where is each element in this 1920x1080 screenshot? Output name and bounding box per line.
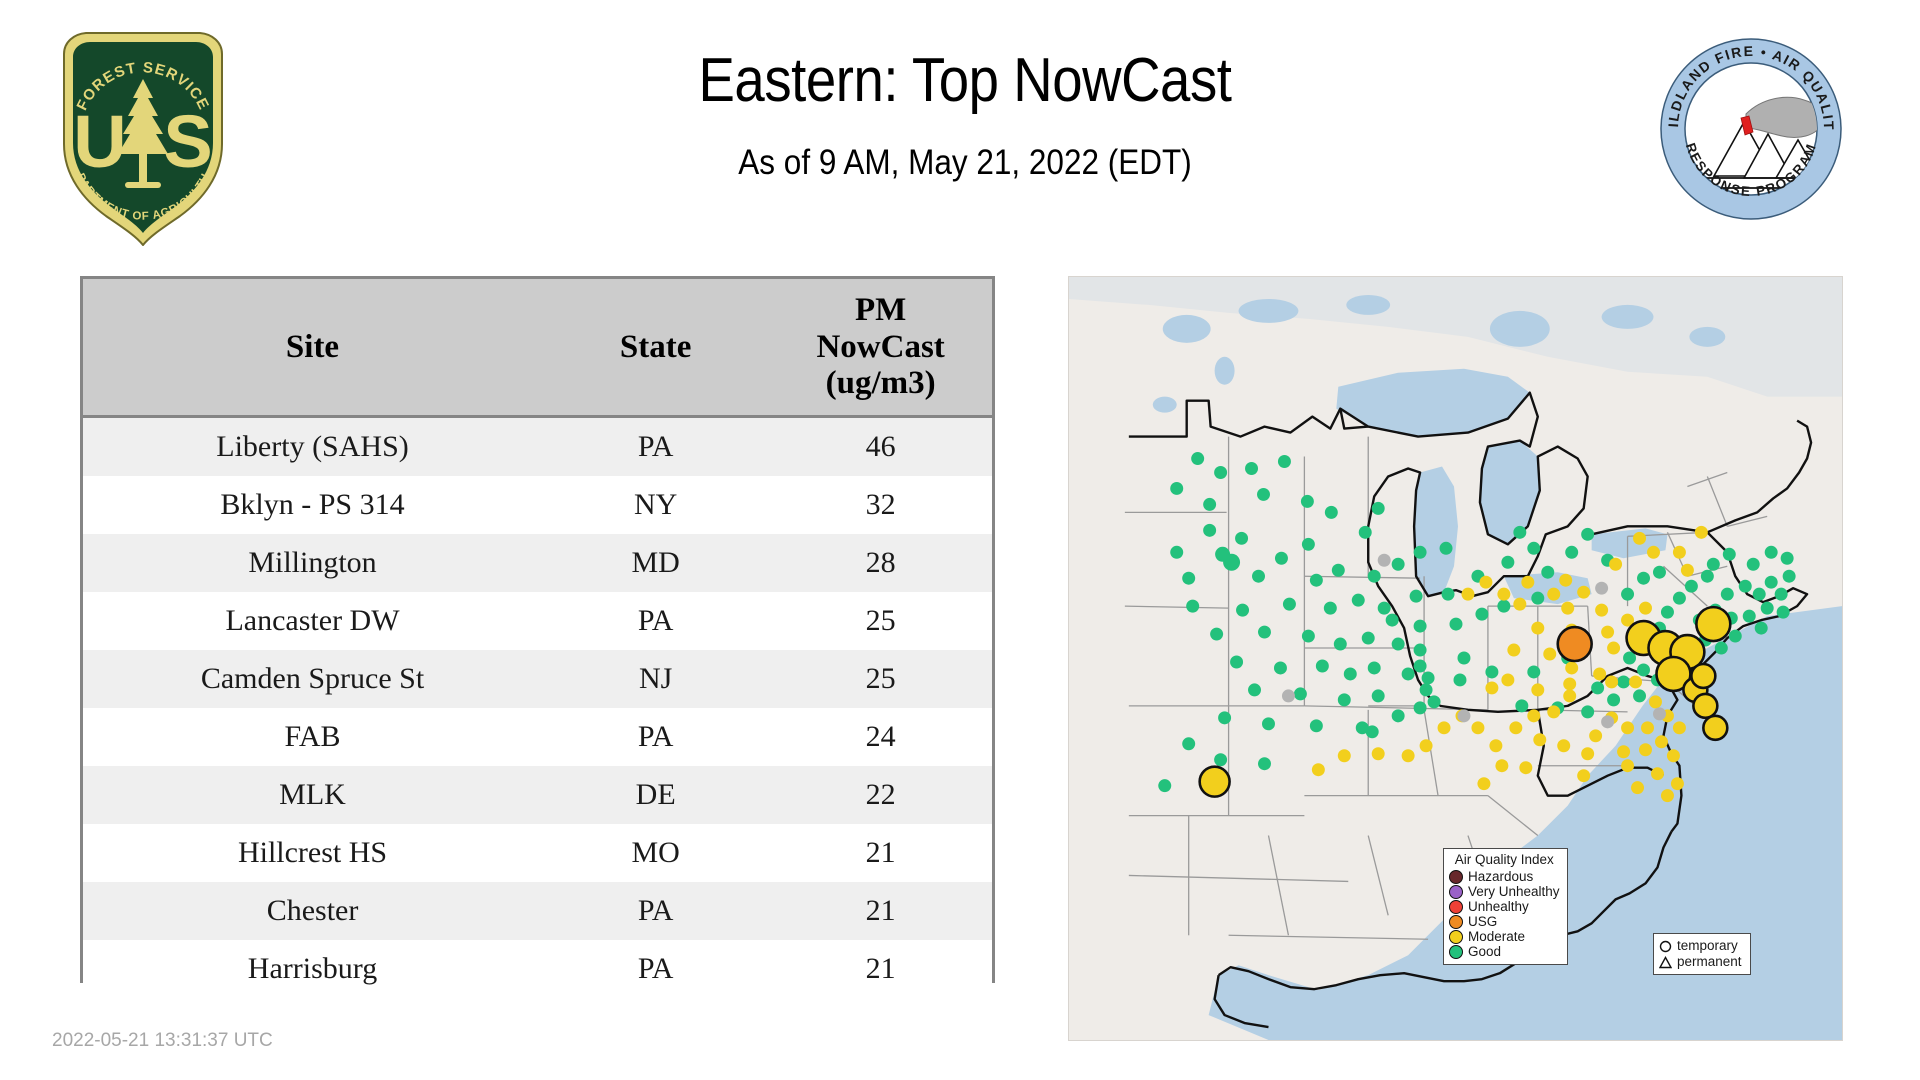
aqi-legend-title: Air Quality Index: [1449, 852, 1560, 868]
cell-site: MLK: [83, 766, 542, 824]
page-header: FOREST SERVICE DEPARTMENT OF AGRICULTURE…: [0, 0, 1920, 250]
column-header-pm-nowcast: PM NowCast (ug/m3): [769, 279, 992, 417]
nowcast-table: Site State PM NowCast (ug/m3) Liberty (S…: [83, 279, 992, 998]
marker-type-legend: temporary permanent: [1653, 933, 1751, 975]
cell-value: 22: [769, 766, 992, 824]
cell-state: MO: [542, 824, 769, 882]
aqi-legend-label: Hazardous: [1468, 869, 1533, 885]
cell-state: PA: [542, 940, 769, 998]
aqi-legend: Air Quality Index Hazardous Very Unhealt…: [1443, 848, 1568, 965]
cell-site: Millington: [83, 534, 542, 592]
cell-state: PA: [542, 592, 769, 650]
cell-state: PA: [542, 417, 769, 477]
usg-swatch-icon: [1449, 915, 1463, 929]
aqi-legend-label: Very Unhealthy: [1468, 884, 1560, 900]
cell-site: Camden Spruce St: [83, 650, 542, 708]
top-site-marker-mlk: [1693, 694, 1717, 718]
cell-site: Chester: [83, 882, 542, 940]
aqi-legend-label: Good: [1468, 944, 1501, 960]
table-body: Liberty (SAHS) PA 46 Bklyn - PS 314 NY 3…: [83, 417, 992, 999]
cell-value: 32: [769, 476, 992, 534]
cell-site: Lancaster DW: [83, 592, 542, 650]
cell-value: 21: [769, 882, 992, 940]
cell-state: MD: [542, 534, 769, 592]
cell-value: 25: [769, 650, 992, 708]
cell-site: Liberty (SAHS): [83, 417, 542, 477]
cell-site: Bklyn - PS 314: [83, 476, 542, 534]
aqi-legend-row-unhealthy: Unhealthy: [1449, 900, 1560, 915]
nowcast-table-container: Site State PM NowCast (ug/m3) Liberty (S…: [80, 276, 995, 983]
aqi-legend-label: Unhealthy: [1468, 899, 1529, 915]
moderate-swatch-icon: [1449, 930, 1463, 944]
cell-site: Hillcrest HS: [83, 824, 542, 882]
table-row: Liberty (SAHS) PA 46: [83, 417, 992, 477]
top-site-marker-west: [1200, 767, 1230, 797]
table-row: MLK DE 22: [83, 766, 992, 824]
table-row: Camden Spruce St NJ 25: [83, 650, 992, 708]
circle-outline-icon: [1659, 940, 1672, 953]
top-site-marker-millington: [1703, 716, 1727, 740]
cell-state: PA: [542, 882, 769, 940]
hazardous-swatch-icon: [1449, 870, 1463, 884]
very-unhealthy-swatch-icon: [1449, 885, 1463, 899]
aqi-legend-row-good: Good: [1449, 945, 1560, 960]
top-site-marker-bklyn-ps-314: [1696, 607, 1730, 641]
aqi-legend-label: USG: [1468, 914, 1497, 930]
cell-value: 24: [769, 708, 992, 766]
unhealthy-swatch-icon: [1449, 900, 1463, 914]
top-site-marker-camden-spruce-st: [1691, 664, 1715, 688]
table-header: Site State PM NowCast (ug/m3): [83, 279, 992, 417]
aqi-legend-row-moderate: Moderate: [1449, 930, 1560, 945]
marker-legend-row-permanent: permanent: [1659, 954, 1742, 970]
column-header-state: State: [542, 279, 769, 417]
marker-legend-label: temporary: [1677, 938, 1738, 954]
footer-timestamp: 2022-05-21 13:31:37 UTC: [52, 1030, 273, 1052]
marker-legend-row-temporary: temporary: [1659, 938, 1742, 954]
usfs-shield-icon: FOREST SERVICE DEPARTMENT OF AGRICULTURE…: [52, 24, 234, 246]
title-block: Eastern: Top NowCast As of 9 AM, May 21,…: [300, 48, 1630, 183]
cell-site: FAB: [83, 708, 542, 766]
pm-nowcast-line1: PM: [773, 292, 988, 329]
svg-text:S: S: [163, 100, 212, 183]
cell-value: 28: [769, 534, 992, 592]
triangle-outline-icon: [1659, 956, 1672, 969]
svg-text:U: U: [73, 100, 126, 183]
aqi-legend-label: Moderate: [1468, 929, 1525, 945]
cell-state: NY: [542, 476, 769, 534]
marker-legend-label: permanent: [1677, 954, 1742, 970]
cell-site: Harrisburg: [83, 940, 542, 998]
table-row: Chester PA 21: [83, 882, 992, 940]
cell-value: 21: [769, 940, 992, 998]
pm-nowcast-line2: NowCast: [773, 329, 988, 366]
cell-value: 21: [769, 824, 992, 882]
cell-state: DE: [542, 766, 769, 824]
good-swatch-icon: [1449, 945, 1463, 959]
page-subtitle: As of 9 AM, May 21, 2022 (EDT): [367, 143, 1564, 183]
table-header-row: Site State PM NowCast (ug/m3): [83, 279, 992, 417]
top-site-marker-hillcrest-hs: [1558, 627, 1592, 661]
wfaqrp-seal-icon: WILDLAND FIRE • AIR QUALITY RESPONSE PRO…: [1658, 36, 1844, 222]
cell-value: 46: [769, 417, 992, 477]
aqi-legend-row-hazardous: Hazardous: [1449, 870, 1560, 885]
cell-state: NJ: [542, 650, 769, 708]
cell-state: PA: [542, 708, 769, 766]
table-row: Lancaster DW PA 25: [83, 592, 992, 650]
aqi-legend-row-very-unhealthy: Very Unhealthy: [1449, 885, 1560, 900]
cell-value: 25: [769, 592, 992, 650]
aqi-legend-row-usg: USG: [1449, 915, 1560, 930]
table-row: Bklyn - PS 314 NY 32: [83, 476, 992, 534]
column-header-site: Site: [83, 279, 542, 417]
air-quality-map[interactable]: Air Quality Index Hazardous Very Unhealt…: [1068, 276, 1843, 1041]
page-title: Eastern: Top NowCast: [380, 48, 1550, 113]
table-row: Millington MD 28: [83, 534, 992, 592]
pm-nowcast-line3: (ug/m3): [773, 365, 988, 402]
table-row: FAB PA 24: [83, 708, 992, 766]
table-row: Hillcrest HS MO 21: [83, 824, 992, 882]
table-row: Harrisburg PA 21: [83, 940, 992, 998]
